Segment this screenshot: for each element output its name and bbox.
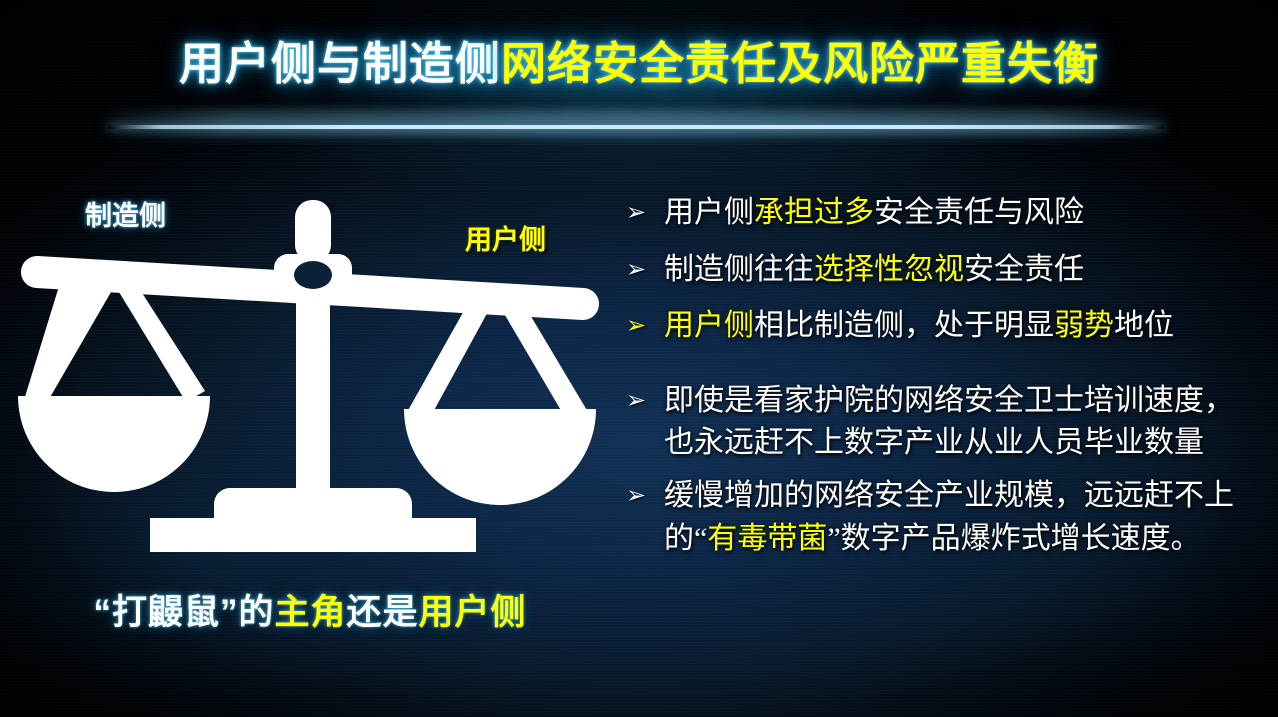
bullet-arrow-icon: ➢ [626,192,664,233]
bullet-item: ➢ 用户侧相比制造侧，处于明显弱势地位 [626,305,1278,348]
bullet-seg-highlight: 用户侧 [664,309,754,342]
bullet-seg: 的“ [664,522,707,555]
bullet-seg-highlight: 有毒带菌 [707,522,827,555]
title-segment-yellow: 网络安全责任及风险严重失衡 [501,38,1099,89]
page-title: 用户侧与制造侧网络安全责任及风险严重失衡 [179,40,1099,89]
title-divider-glow [96,110,1176,136]
bullet-seg: ”数字产品爆炸式增长速度。 [827,522,1200,555]
bullet-seg: 制造侧往往 [664,253,814,286]
bullet-seg: 相比制造侧，处于明显 [754,309,1054,342]
bullet-item: ➢ 制造侧往往选择性忽视安全责任 [626,249,1278,292]
bullet-seg-highlight: 承担过多 [754,196,874,229]
title-divider [108,125,1164,129]
bullet-item: ➢ 缓慢增加的网络安全产业规模，远远赶不上 的“有毒带菌”数字产品爆炸式增长速度… [626,475,1278,560]
bullet-seg-highlight: 弱势 [1054,309,1114,342]
bullet-text: 缓慢增加的网络安全产业规模，远远赶不上 的“有毒带菌”数字产品爆炸式增长速度。 [664,475,1278,560]
caption-seg-0: “打鼹鼠” [93,593,238,632]
bullet-seg: 也永远赶不上数字产业从业人员毕业数量 [664,422,1278,465]
bullet-text: 用户侧相比制造侧，处于明显弱势地位 [664,305,1278,348]
bullet-list: ➢ 用户侧承担过多安全责任与风险 ➢ 制造侧往往选择性忽视安全责任 ➢ 用户侧相… [626,192,1278,560]
title-area: 用户侧与制造侧网络安全责任及风险严重失衡 [0,40,1278,89]
scale-label-user: 用户侧 [465,218,546,257]
bullet-text: 制造侧往往选择性忽视安全责任 [664,249,1278,292]
bullet-seg-highlight: 选择性忽视 [814,253,964,286]
bullet-item: ➢ 用户侧承担过多安全责任与风险 [626,192,1278,235]
title-segment-white: 用户侧与制造侧 [179,38,501,89]
bullet-text: 用户侧承担过多安全责任与风险 [664,192,1278,235]
bullet-arrow-icon: ➢ [626,475,664,516]
bullet-text: 即使是看家护院的网络安全卫士培训速度， 也永远赶不上数字产业从业人员毕业数量 [664,380,1278,465]
slide-canvas: 用户侧与制造侧网络安全责任及风险严重失衡 [0,0,1278,717]
bullet-seg: 缓慢增加的网络安全产业规模，远远赶不上 [664,475,1278,518]
bullet-seg: 安全责任与风险 [874,196,1084,229]
scale-caption: “打鼹鼠”的主角还是用户侧 [0,584,620,635]
caption-seg-1: 的 [238,593,274,632]
bullet-arrow-icon: ➢ [626,305,664,346]
caption-seg-4: 用户侧 [419,593,527,632]
caption-seg-3: 还是 [347,593,419,632]
bullet-seg: 即使是看家护院的网络安全卫士培训速度， [664,380,1278,423]
bullet-line: 的“有毒带菌”数字产品爆炸式增长速度。 [664,518,1278,561]
caption-seg-2: 主角 [274,593,346,632]
bullet-arrow-icon: ➢ [626,249,664,290]
bullet-item: ➢ 即使是看家护院的网络安全卫士培训速度， 也永远赶不上数字产业从业人员毕业数量 [626,380,1278,465]
scale-label-manufacturer: 制造侧 [85,194,166,233]
bullet-arrow-icon: ➢ [626,380,664,421]
balance-scale-panel: 制造侧 用户侧 “打鼹鼠”的主角还是用户侧 [0,150,620,717]
bullet-seg: 安全责任 [964,253,1084,286]
bullet-seg: 地位 [1114,309,1174,342]
bullet-seg: 用户侧 [664,196,754,229]
